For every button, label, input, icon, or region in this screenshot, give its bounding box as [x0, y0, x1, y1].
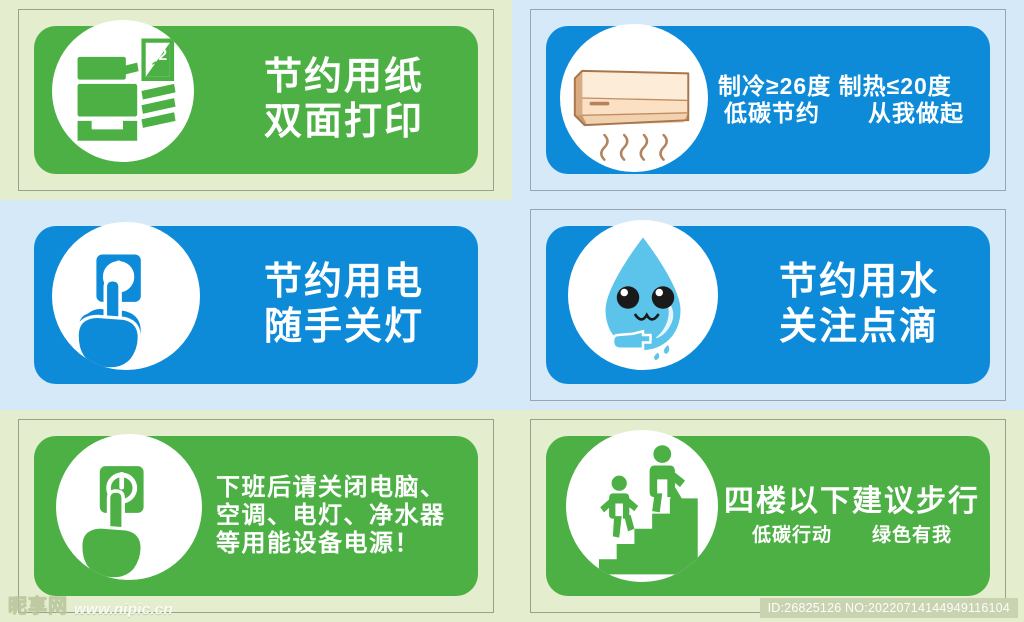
- banner-save-water: 节约用水 关注点滴: [546, 226, 990, 384]
- banner-save-paper: 1 2 节约用纸 双面打印: [34, 26, 478, 174]
- sign-line: 双面打印: [210, 100, 478, 145]
- sign-line: 随手关灯: [210, 305, 478, 350]
- sign-line: 等用能设备电源！: [216, 530, 478, 558]
- panel-take-stairs: 四楼以下建议步行 低碳行动 绿色有我 ID:26825126 NO:202207…: [512, 410, 1024, 622]
- banner-save-electricity: 节约用电 随手关灯: [34, 226, 478, 384]
- sign-line: 空调、电灯、净水器: [216, 502, 478, 530]
- banner-take-stairs: 四楼以下建议步行 低碳行动 绿色有我: [546, 436, 990, 596]
- banner-power-off-after-work: 下班后请关闭电脑、 空调、电灯、净水器 等用能设备电源！: [34, 436, 478, 596]
- panel-air-conditioner: 制冷≥26度 制热≤20度 低碳节约 从我做起: [512, 0, 1024, 200]
- sign-line: 节约用纸: [210, 55, 478, 100]
- panel-save-paper: 1 2 节约用纸 双面打印: [0, 0, 512, 200]
- hand-switch-icon: [56, 434, 202, 580]
- sign-line: 节约用水: [728, 260, 990, 305]
- text-block-power-off: 下班后请关闭电脑、 空调、电灯、净水器 等用能设备电源！: [216, 474, 478, 559]
- text-block-air-conditioner: 制冷≥26度 制热≤20度 低碳节约 从我做起: [718, 73, 990, 127]
- air-conditioner-icon: [560, 24, 708, 172]
- watermark: 昵享网 www.nipic.cn: [8, 591, 173, 618]
- sign-line: 关注点滴: [728, 305, 990, 350]
- watermark-logo: 昵享网: [8, 591, 68, 618]
- text-block-save-paper: 节约用纸 双面打印: [210, 55, 478, 145]
- printer-icon: 1 2: [52, 20, 194, 162]
- sign-line: 制冷≥26度 制热≤20度: [718, 73, 990, 100]
- sign-line: 低碳行动 绿色有我: [724, 519, 990, 547]
- panel-power-off-after-work: 下班后请关闭电脑、 空调、电灯、净水器 等用能设备电源！ 昵享网 www.nip…: [0, 410, 512, 622]
- sign-sheet: 1 2 节约用纸 双面打印: [0, 0, 1024, 622]
- banner-air-conditioner: 制冷≥26度 制热≤20度 低碳节约 从我做起: [546, 26, 990, 174]
- watermark-url: www.nipic.cn: [74, 601, 173, 618]
- stairs-people-icon: [566, 430, 718, 582]
- panel-save-electricity: 节约用电 随手关灯: [0, 200, 512, 410]
- text-block-save-electricity: 节约用电 随手关灯: [210, 260, 478, 350]
- sign-line: 下班后请关闭电脑、: [216, 474, 478, 502]
- sign-line: 低碳节约 从我做起: [718, 100, 990, 127]
- water-droplet-mascot-icon: [568, 220, 718, 370]
- id-tag: ID:26825126 NO:20220714144949116104: [760, 598, 1018, 618]
- svg-text:2: 2: [159, 47, 168, 64]
- panel-save-water: 节约用水 关注点滴: [512, 200, 1024, 410]
- text-block-take-stairs: 四楼以下建议步行 低碳行动 绿色有我: [724, 484, 990, 548]
- text-block-save-water: 节约用水 关注点滴: [728, 260, 990, 350]
- sign-line: 节约用电: [210, 260, 478, 305]
- hand-switch-icon: [52, 222, 200, 370]
- sign-line: 四楼以下建议步行: [724, 484, 990, 519]
